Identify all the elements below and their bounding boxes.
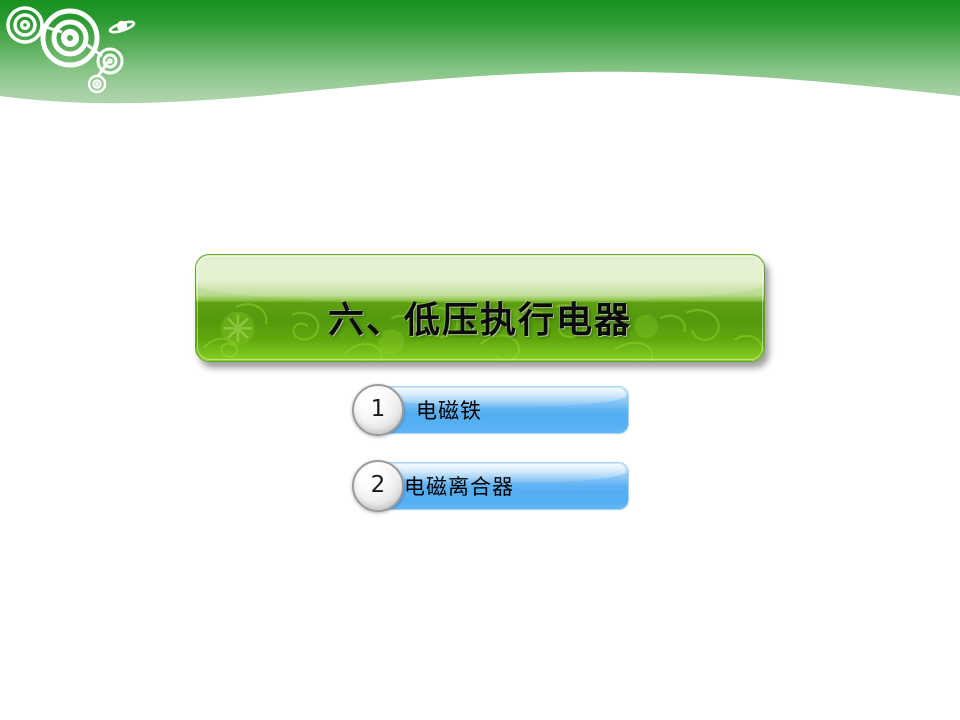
slide-canvas: 六、低压执行电器 电磁铁 1 电磁离合器 2 — [0, 0, 960, 720]
list-item-number-badge: 1 — [352, 384, 404, 436]
header-band — [0, 0, 960, 110]
list-item[interactable]: 电磁离合器 2 — [352, 460, 628, 512]
list-item-number-badge: 2 — [352, 460, 404, 512]
header-band-graphic — [0, 0, 960, 110]
list-item[interactable]: 电磁铁 1 — [352, 384, 628, 436]
title-banner: 六、低压执行电器 — [195, 254, 765, 362]
list-item-number: 1 — [371, 398, 386, 421]
page-title: 六、低压执行电器 — [196, 255, 764, 361]
list-item-number: 2 — [371, 474, 386, 497]
